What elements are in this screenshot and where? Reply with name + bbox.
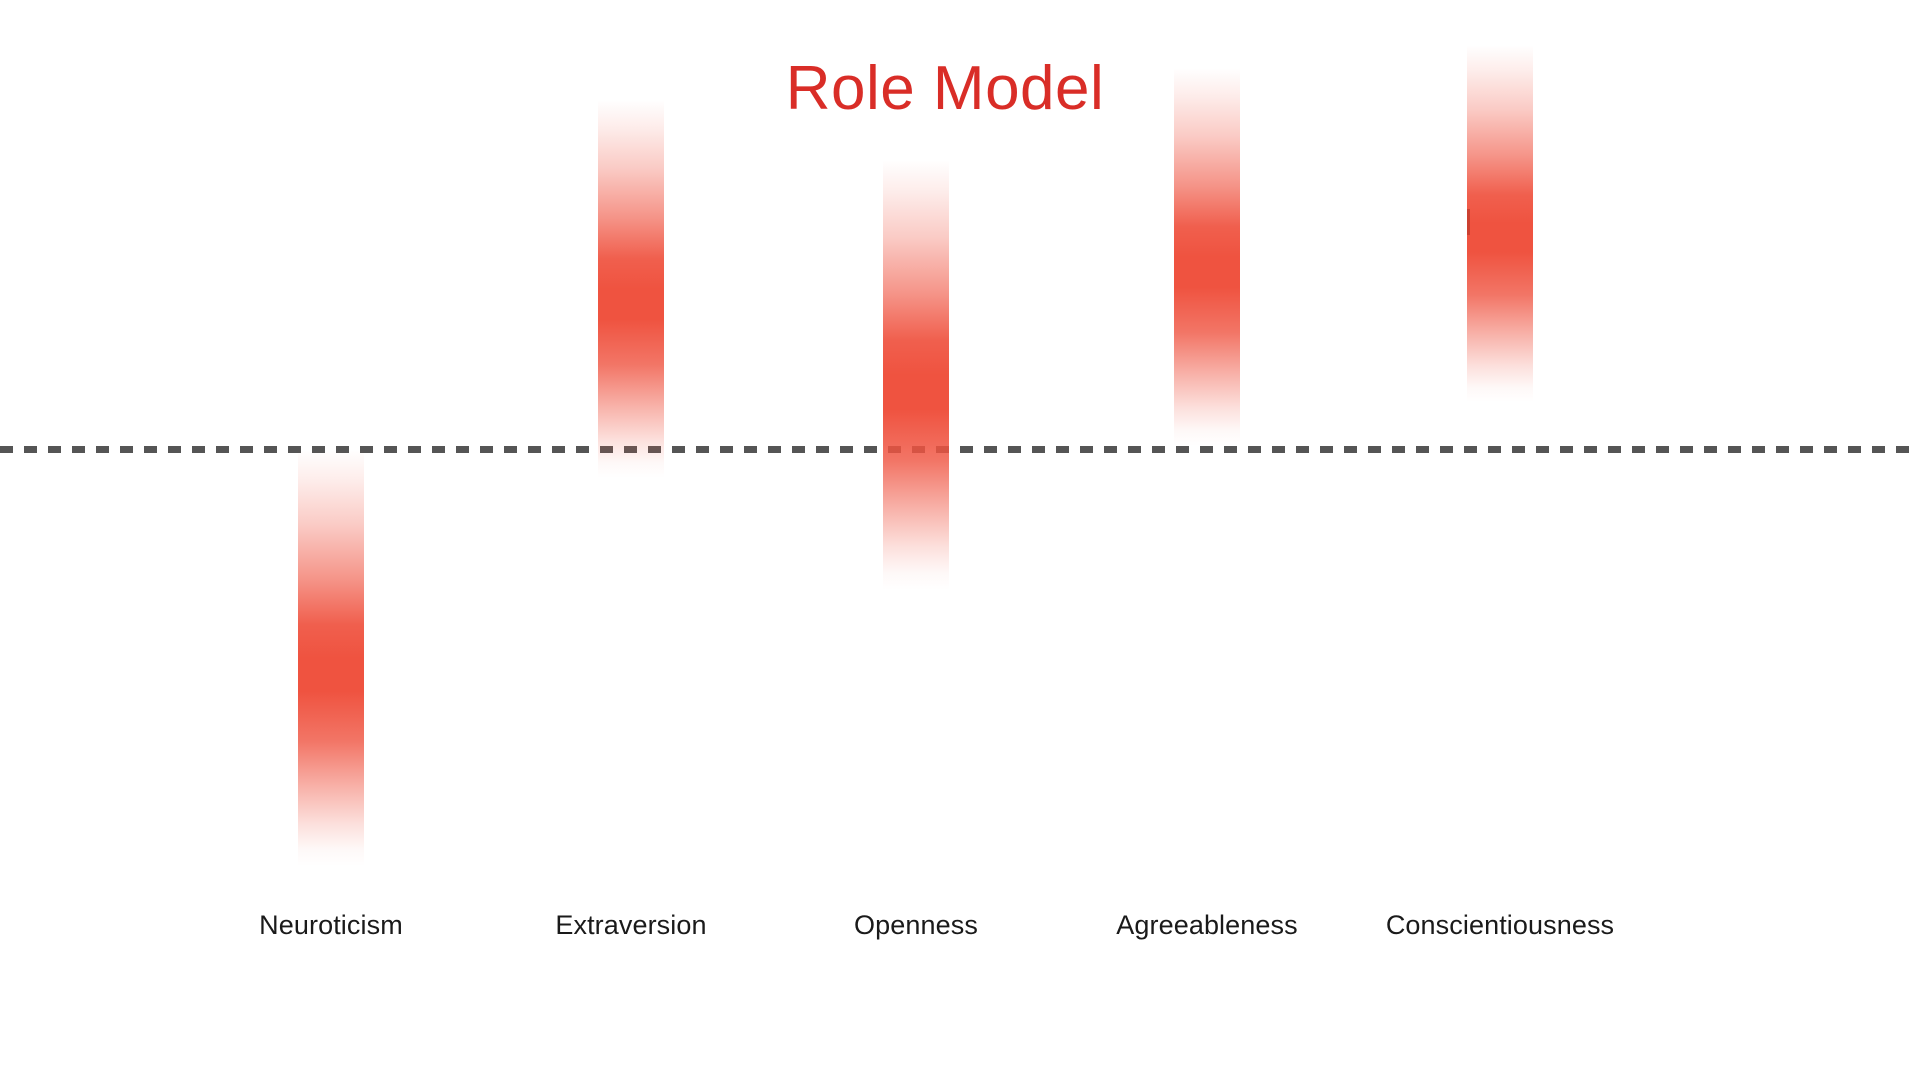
bar-conscientiousness[interactable]	[1467, 45, 1533, 402]
chart-canvas: Role Model Neuroticism Extraversion Open…	[0, 0, 1920, 1080]
bar-fill-extraversion	[598, 100, 664, 478]
x-tick-label-conscientiousness: Conscientiousness	[1290, 912, 1710, 939]
bar-fill-conscientiousness	[1467, 45, 1533, 402]
bar-agreeableness[interactable]	[1174, 68, 1240, 446]
bar-fill-agreeableness	[1174, 68, 1240, 446]
bar-edge-tick-icon	[1467, 209, 1470, 235]
bar-fill-openness	[883, 160, 949, 590]
bar-neuroticism[interactable]	[298, 450, 364, 866]
bar-extraversion[interactable]	[598, 100, 664, 478]
bar-openness[interactable]	[883, 160, 949, 590]
bar-fill-neuroticism	[298, 450, 364, 866]
